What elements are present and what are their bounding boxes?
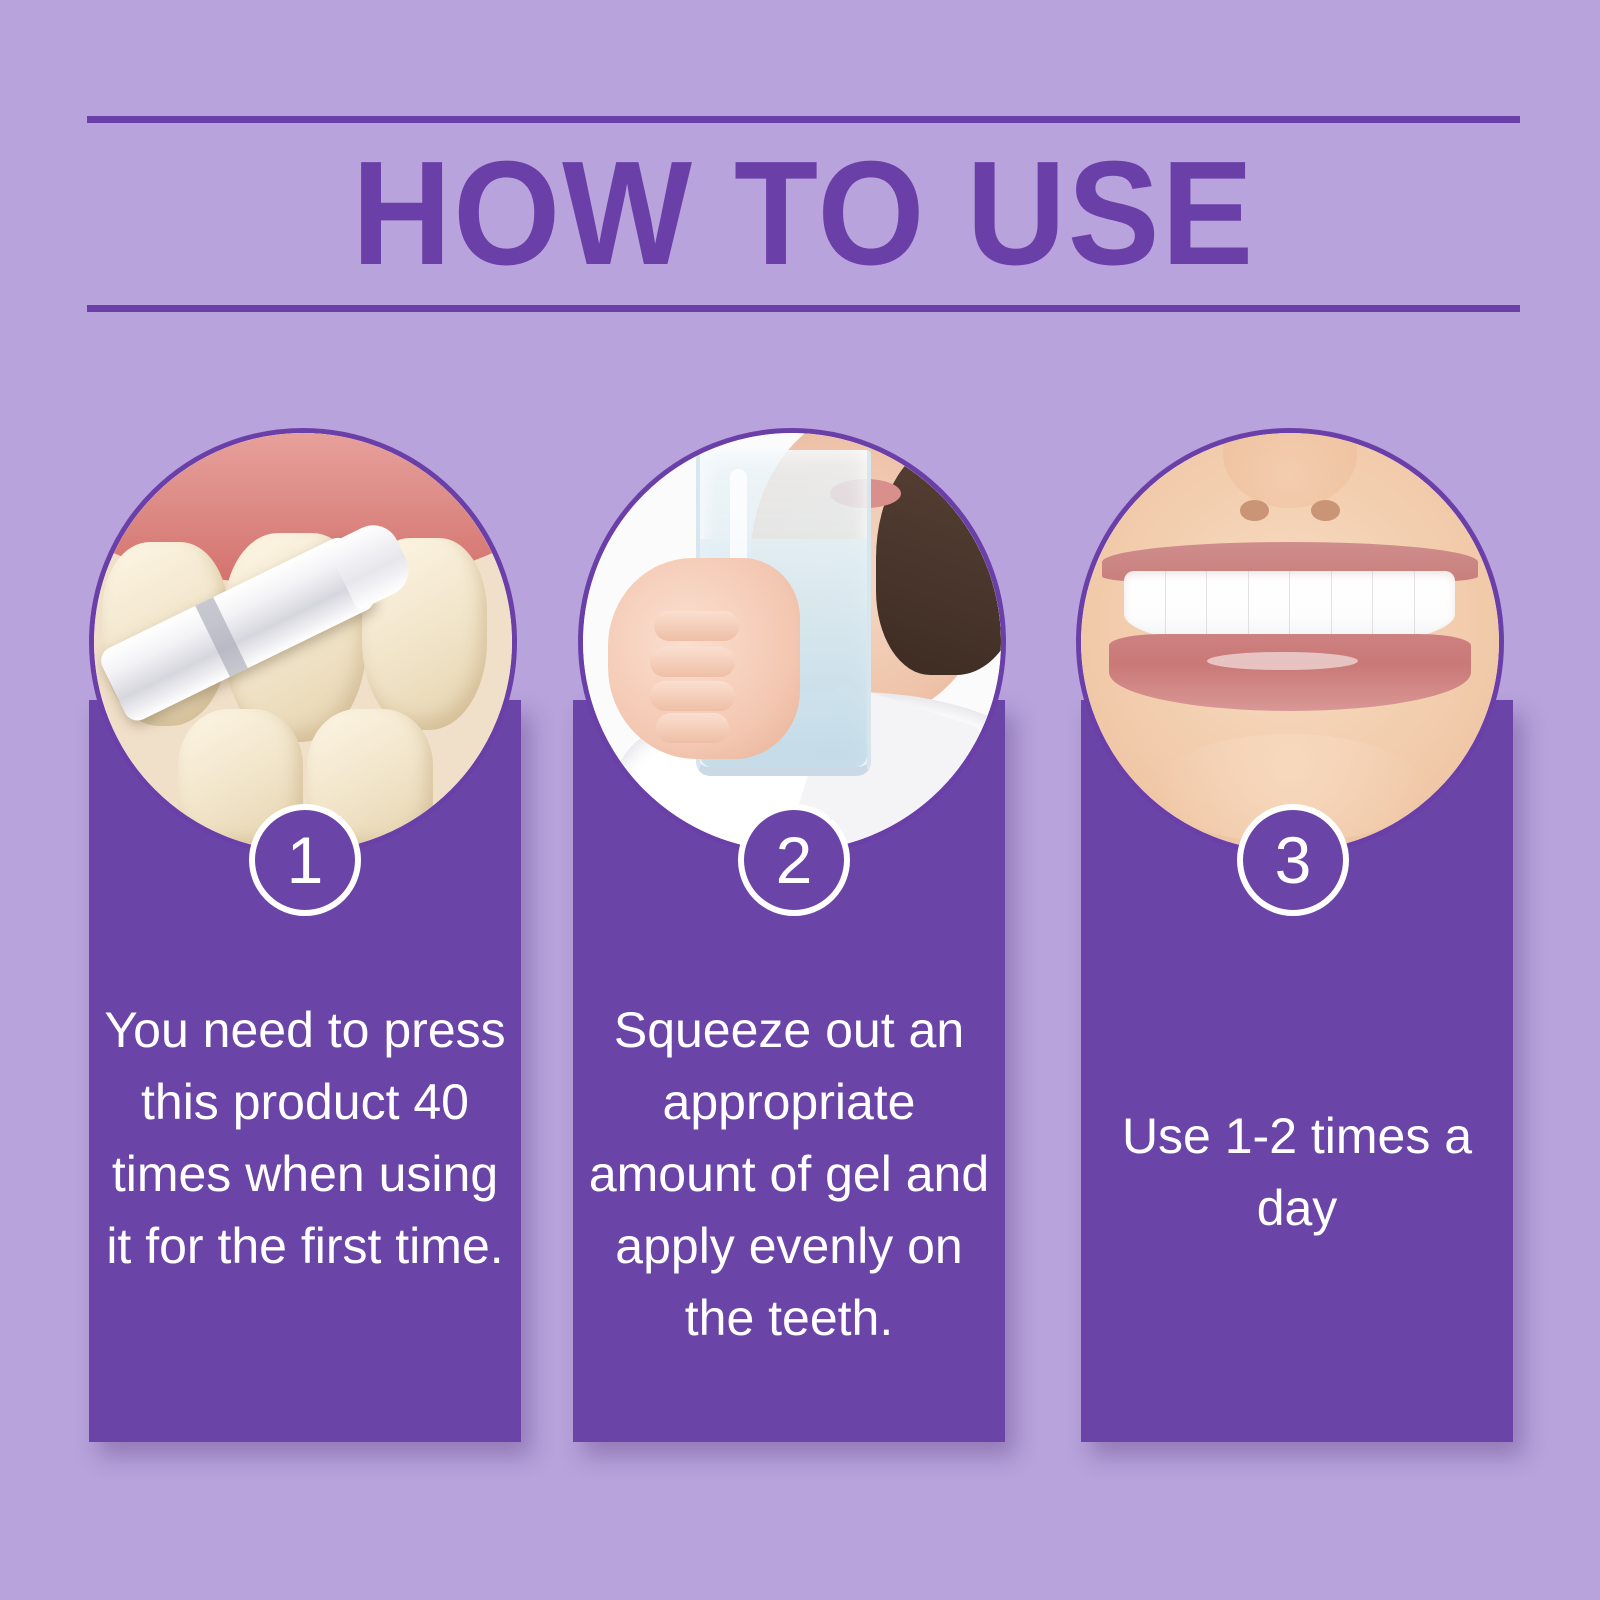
mouth-shape (1102, 542, 1478, 726)
finger-shape (656, 713, 729, 743)
smile-illustration (1081, 433, 1499, 851)
finger-shape (650, 681, 735, 711)
nose-shape (1223, 433, 1357, 508)
step-caption-2: Squeeze out an appropriate amount of gel… (583, 994, 995, 1354)
teeth-scene (94, 433, 512, 851)
steps-container: 1 You need to press this product 40 time… (0, 0, 1600, 1600)
smile-scene (1081, 433, 1499, 851)
finger-shape (650, 647, 735, 677)
finger-shape (654, 611, 739, 641)
water-glass-illustration (583, 433, 1001, 851)
step-caption-1: You need to press this product 40 times … (99, 994, 511, 1282)
step-number-badge-3: 3 (1237, 804, 1349, 916)
step-number-badge-1: 1 (249, 804, 361, 916)
lower-lip-shape (1109, 634, 1470, 711)
hand-shape (608, 558, 800, 759)
step-number-badge-2: 2 (738, 804, 850, 916)
teeth-pen-illustration (94, 433, 512, 851)
pen-band (195, 597, 247, 677)
nostril-shape (1240, 500, 1269, 521)
step-caption-3: Use 1-2 times a day (1091, 1100, 1503, 1244)
water-scene (583, 433, 1001, 851)
nostril-shape (1311, 500, 1340, 521)
step-image-3 (1076, 428, 1504, 856)
how-to-use-poster: HOW TO USE 1 You need to (0, 0, 1600, 1600)
step-image-1 (89, 428, 517, 856)
step-image-2 (578, 428, 1006, 856)
